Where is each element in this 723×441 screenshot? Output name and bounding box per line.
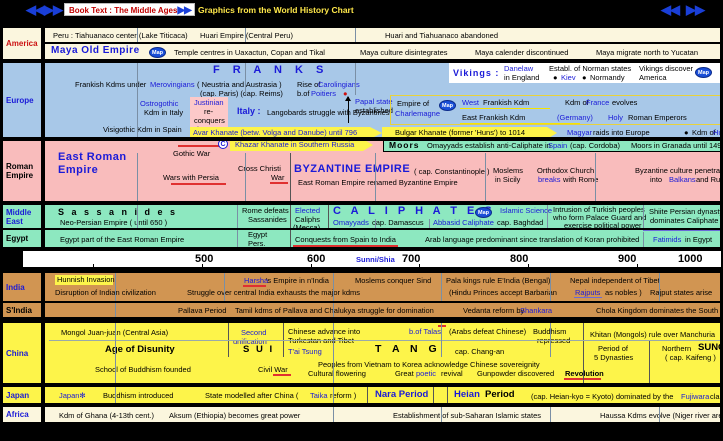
chola-kingdom-label: Chola Kingdom dominates the South [596, 307, 718, 316]
china-cell: Mongol Juan-juan (Central Asia) Second u… [44, 322, 721, 384]
map-button-vikings[interactable]: Map [695, 67, 712, 78]
sui-title: S U I [243, 346, 274, 355]
west-label: West [462, 99, 479, 108]
vikings-title: Vikings : [453, 69, 499, 78]
book-text-arrow-icon: ▶▶ [177, 5, 190, 16]
aksum-label: Aksum (Ethiopia) becomes great power [169, 412, 300, 421]
maya-old-empire-title: Maya Old Empire [51, 47, 140, 56]
america-peru-0: Peru : Tiahuanaco center (Lake Titicaca) [53, 32, 188, 41]
hung-label: Hung. [713, 129, 721, 138]
khazar-c-button[interactable]: C [218, 140, 228, 149]
khazar-arrow-icon [363, 140, 373, 151]
row-label-china: China [2, 322, 42, 384]
b-of-label: b.of [297, 90, 310, 99]
fatimids-label: Fatimids [653, 236, 681, 245]
tick-label-700: 700 [402, 253, 420, 265]
toolbar: ◀◀ ▶▶ Book Text : The Middle Ages▶▶ Grap… [0, 0, 723, 19]
merovingians-label: Merovingians [150, 81, 195, 90]
disruption-label: Disruption of Indian civilization [55, 289, 156, 298]
intrusion-turkish-3: exercise political power [564, 222, 642, 229]
moors-title: Moors [389, 141, 420, 150]
fatimids-egypt-label: in Egypt [685, 236, 712, 245]
japan-state-modelled-label: State modelled after China ( [205, 392, 298, 401]
shankara-label: Shankara [520, 307, 552, 316]
taika-label: Taika [310, 392, 328, 401]
arab-language-label: Arab language predominant since translat… [425, 236, 639, 245]
roman-label-line1: Roman [6, 162, 33, 171]
franks-title: F R A N K S [213, 66, 328, 75]
egypt-pers-2: Pers. [248, 240, 266, 248]
charlemagne-label: Charlemagne [395, 110, 440, 119]
b-of-talas-label: b.of Talas [409, 328, 441, 337]
harsha-empire-label: 's Empire in n'India [266, 277, 329, 286]
neo-persian-label: Neo-Persian Empire ( until 650 ) [60, 219, 167, 228]
tang-title: T A N G [375, 345, 441, 354]
fujiwara-label: Fujiwara [681, 393, 709, 402]
danelaw-england-label: in England [504, 74, 539, 83]
nepal-independent-label: Nepal independent of Tibet [570, 277, 660, 286]
east-frankish-kdm-label: East Frankish Kdm [462, 114, 525, 123]
frankish-kdms-label: Frankish Kdms under [75, 81, 146, 90]
graphics-title: Graphics from the World History Chart [198, 5, 354, 15]
map-button-maya[interactable]: Map [149, 47, 166, 58]
row-label-europe: Europe [2, 62, 42, 138]
shiite-persian-2: dominates Caliphate [650, 217, 718, 226]
byz-culture-label-3: and Russia [696, 176, 721, 185]
byz-culture-label-2: into [650, 176, 662, 185]
buddhism-repressed-2: repressed [537, 337, 570, 346]
moslems-sicily-2: in Sicily [495, 176, 520, 185]
byzantine-renamed-label: East Roman Empire renamed Byzantine Empi… [298, 179, 458, 188]
sassanides-title: S a s s a n i d e s [58, 208, 178, 217]
row-label-roman-empire: Roman Empire [2, 140, 42, 202]
period-5-dynasties-2: 5 Dynasties [594, 354, 633, 363]
khitan-mongols-label: Khitan (Mongols) rule over Manchuria [590, 331, 715, 340]
america-maya-1: Maya culture disintegrates [360, 49, 448, 58]
visigothic-label: Visigothic Kdm in Spain [103, 126, 182, 135]
row-label-india: India [2, 272, 42, 302]
bulgar-khanate-label: Bulgar Khanate (former 'Huns') to 1014 [395, 129, 525, 138]
heian-period-label: Period [485, 391, 515, 400]
heian-label: Heian [454, 391, 480, 400]
byzantine-empire-title: BYZANTINE EMPIRE [294, 165, 410, 174]
moors-cordoba-label: (cap. Cordoba) [570, 142, 620, 151]
right-prev-button[interactable]: ◀◀ [661, 3, 679, 16]
egypt-cell: Egypt part of the East Roman Empire Egyp… [44, 229, 721, 248]
poetic-label: poetic [416, 370, 436, 379]
east-roman-empire-title-2: Empire [58, 166, 98, 175]
map-button-caliphates[interactable]: Map [475, 207, 492, 218]
papal-state-established-label: established [355, 107, 393, 116]
book-text-button[interactable]: Book Text : The Middle Ages▶▶ [64, 3, 195, 16]
heian-cap-label: (cap. Heian-kyo = Kyoto) dominated by th… [531, 393, 673, 402]
pala-kings-label: Pala kings rule E'India (Bengal) [446, 277, 550, 286]
kdm-ghana-label: Kdm of Ghana (4-13th cent.) [59, 412, 154, 421]
gunpowder-label: Gunpowder discovered [477, 370, 554, 379]
japan-buddhism-label: Buddhism introduced [103, 392, 173, 401]
islamic-states-label: Establishment of sub-Saharan Islamic sta… [393, 412, 541, 421]
tick-label-1000: 1000 [678, 253, 702, 265]
abbasid-caliphate-label: Abbasid Caliphate [433, 219, 494, 228]
vikings-america-label: America [639, 74, 667, 83]
kiev-dot-icon: ● [553, 74, 558, 83]
america-peru-2: Huari and Tiahuanaco abandoned [385, 32, 498, 41]
orthodox-breaks-label: breaks [538, 176, 561, 185]
japan-star-label: Japan✻ [59, 392, 86, 401]
map-button-charlemagne[interactable]: Map [439, 100, 456, 111]
s-india-cell: Pallava Period Tamil kdms of Pallava and… [44, 302, 721, 318]
evolves-label: evolves [612, 99, 637, 108]
middle-east-label-line2: East [6, 217, 23, 226]
tick-label-800: 800 [510, 253, 528, 265]
next-next-button[interactable]: ▶▶ [44, 3, 62, 16]
roman-empire-cell: East Roman Empire Gothic War Wars with P… [44, 140, 721, 202]
row-label-america: America [2, 27, 42, 60]
row-label-africa: Africa [2, 406, 42, 423]
poitiers-label: Poitiers [311, 90, 336, 99]
kiev-label: Kiev [561, 74, 576, 83]
sunni-shia-annotation: Sunni/Shia [356, 256, 395, 265]
west-frankish-kdm-label: Frankish Kdm [483, 99, 529, 108]
school-buddhism-label: School of Buddhism founded [95, 366, 191, 375]
omayyads-label: Omayyads [333, 219, 369, 228]
africa-cell: Kdm of Ghana (4-13th cent.) Aksum (Ethio… [44, 406, 721, 423]
omayyads-cap-label: cap. Damascus [372, 219, 424, 228]
hunnish-invasion-label: Hunnish Invasion [57, 276, 115, 285]
book-text-label: Book Text : The Middle Ages [69, 6, 177, 15]
timeline-scale: 500 600 Sunni/Shia 700 800 900 1000 [22, 250, 722, 268]
avar-arrow-icon [370, 127, 382, 138]
row-label-s-india: S'India [2, 302, 42, 318]
tick-label-600: 600 [307, 253, 325, 265]
conquests-spain-india-label: Conquests from Spain to India [295, 236, 396, 245]
haussa-kdms-label: Haussa Kdms evolve (Niger river area) [600, 412, 721, 421]
prev-prev-button[interactable]: ◀◀ [26, 3, 44, 16]
islamic-science-label: Islamic Science [500, 207, 552, 216]
egypt-part-of-label: Egypt part of the East Roman Empire [60, 236, 184, 245]
caliphates-title: C A L I P H A T E S [333, 207, 495, 216]
tick-label-500: 500 [195, 253, 213, 265]
papal-arrow-up-icon [345, 96, 351, 101]
wars-with-persia-label: Wars with Persia [163, 174, 219, 183]
orthodox-rome-label: with Rome [563, 176, 598, 185]
normandy-dot-icon: ● [582, 74, 587, 83]
sung-title: SUNG [698, 344, 721, 353]
row-label-egypt: Egypt [2, 229, 42, 248]
nara-period-title: Nara Period [375, 391, 428, 400]
europe-cell: F R A N K S Frankish Kdms under Meroving… [44, 62, 721, 138]
tamil-kdms-label: Tamil kdms of Pallava and Chalukya strug… [235, 307, 434, 316]
struggle-central-india-label: Struggle over central India exhausts the… [187, 289, 360, 298]
bulgar-arrow-icon [547, 127, 557, 138]
hindu-princes-label-1: (Hindu Princes accept Barbarian [449, 289, 557, 298]
tick-label-900: 900 [618, 253, 636, 265]
gothic-war-label: Gothic War [173, 150, 210, 159]
tang-cap-label: cap. Chang-an [455, 348, 504, 357]
america-maya-cell: Maya Old Empire Map Temple centres in Ua… [44, 43, 721, 60]
america-peru-1: Huari Empire (Central Peru) [200, 32, 293, 41]
moors-omayyads-label: Omayyads establish anti-Caliphate in [427, 142, 551, 151]
empire-of-label: Empire of [397, 100, 429, 109]
talas-text-label: (Arabs defeat Chinese) [449, 328, 526, 337]
byzantine-cap-label: ( cap. Constantinople ) [414, 168, 489, 177]
ostrogothic-italy-label: Kdm in Italy [144, 109, 183, 118]
america-maya-3: Maya migrate north to Yucatan [596, 49, 698, 58]
great-label: Great [395, 370, 414, 379]
kdm-hung-dot-icon: ● [684, 129, 689, 138]
america-maya-0: Temple centres in Uaxactun, Copan and Ti… [174, 49, 325, 58]
india-cell: Hunnish Invasion Harsha 's Empire in n'I… [44, 272, 721, 302]
middle-east-cell: S a s s a n i d e s Neo-Persian Empire (… [44, 204, 721, 229]
moors-spain-label: Spain [548, 142, 567, 151]
roman-label-line2: Empire [6, 171, 33, 180]
revival-label: revival [441, 370, 463, 379]
germany-label: (Germany) [557, 114, 593, 123]
avar-khanate-label: Avar Khanate (betw. Volga and Danube) un… [193, 129, 357, 138]
middle-east-label-line1: Middle [6, 208, 31, 217]
abbasid-cap-label: cap. Baghdad [497, 219, 543, 228]
world-history-chart: ◀◀ ▶▶ Book Text : The Middle Ages▶▶ Grap… [0, 0, 723, 441]
america-maya-2: Maya calender discontinued [475, 49, 568, 58]
khazar-khanate-label: Khazar Khanate in Southern Russia [235, 141, 354, 150]
america-peru-cell: Peru : Tiahuanaco center (Lake Titicaca)… [44, 27, 721, 43]
moslems-sind-label: Moslems conquer Sind [355, 277, 431, 286]
holy-label: Holy [608, 114, 623, 123]
france-label: France [586, 99, 609, 108]
balkans-label: Balkans [669, 176, 696, 185]
italy-title: Italy : [237, 107, 261, 116]
normandy-label: Normandy [590, 74, 625, 83]
pallava-period-label: Pallava Period [178, 307, 226, 316]
hindu-princes-label-2: as nobles ) [605, 289, 642, 298]
moors-granada-label: Moors in Granada until 1492 [631, 142, 721, 151]
vedanta-reform-label: Vedanta reform by [463, 307, 524, 316]
japan-cell: Japan✻ Buddhism introduced State modelle… [44, 386, 721, 404]
chinese-advance-2: Turkestan and Tibet [288, 337, 354, 346]
cultural-flowering-label: Cultural flowering [308, 370, 366, 379]
row-label-japan: Japan [2, 386, 42, 404]
rome-defeats-label-2: Sassanides [248, 216, 287, 225]
east-roman-empire-title-1: East Roman [58, 153, 127, 162]
roman-emperors-label: Roman Emperors [628, 114, 687, 123]
tai-tsung-label: T'ai Tsung [288, 348, 322, 357]
right-next-button[interactable]: ▶▶ [686, 3, 704, 16]
row-label-middle-east: Middle East [2, 204, 42, 229]
fujiwara-clan-label: clan [710, 393, 721, 402]
sung-cap-label: ( cap. Kaifeng ) [665, 354, 716, 363]
